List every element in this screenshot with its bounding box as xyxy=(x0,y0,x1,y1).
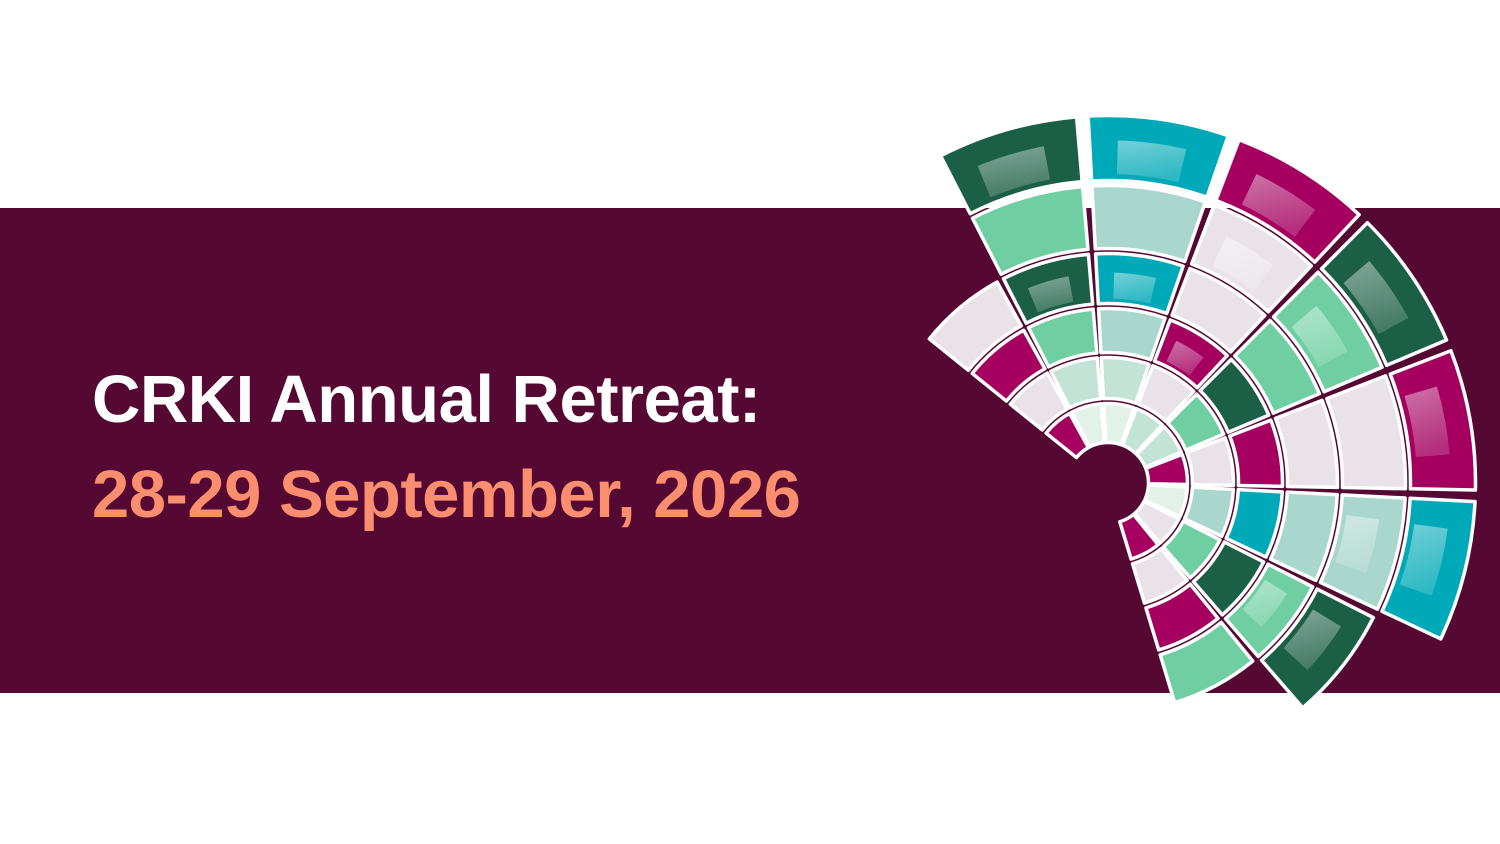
fan-segment-gloss xyxy=(978,146,1050,197)
headline-title: CRKI Annual Retreat: xyxy=(92,352,992,447)
fan-segment xyxy=(1088,115,1228,197)
fan-segment-gloss xyxy=(1117,140,1186,182)
page-title: CRKI Annual Retreat: 28-29 September, 20… xyxy=(92,352,992,542)
retreat-banner: CRKI Annual Retreat: 28-29 September, 20… xyxy=(0,0,1500,844)
headline-date: 28-29 September, 2026 xyxy=(92,447,992,542)
fan-segment xyxy=(941,117,1083,214)
